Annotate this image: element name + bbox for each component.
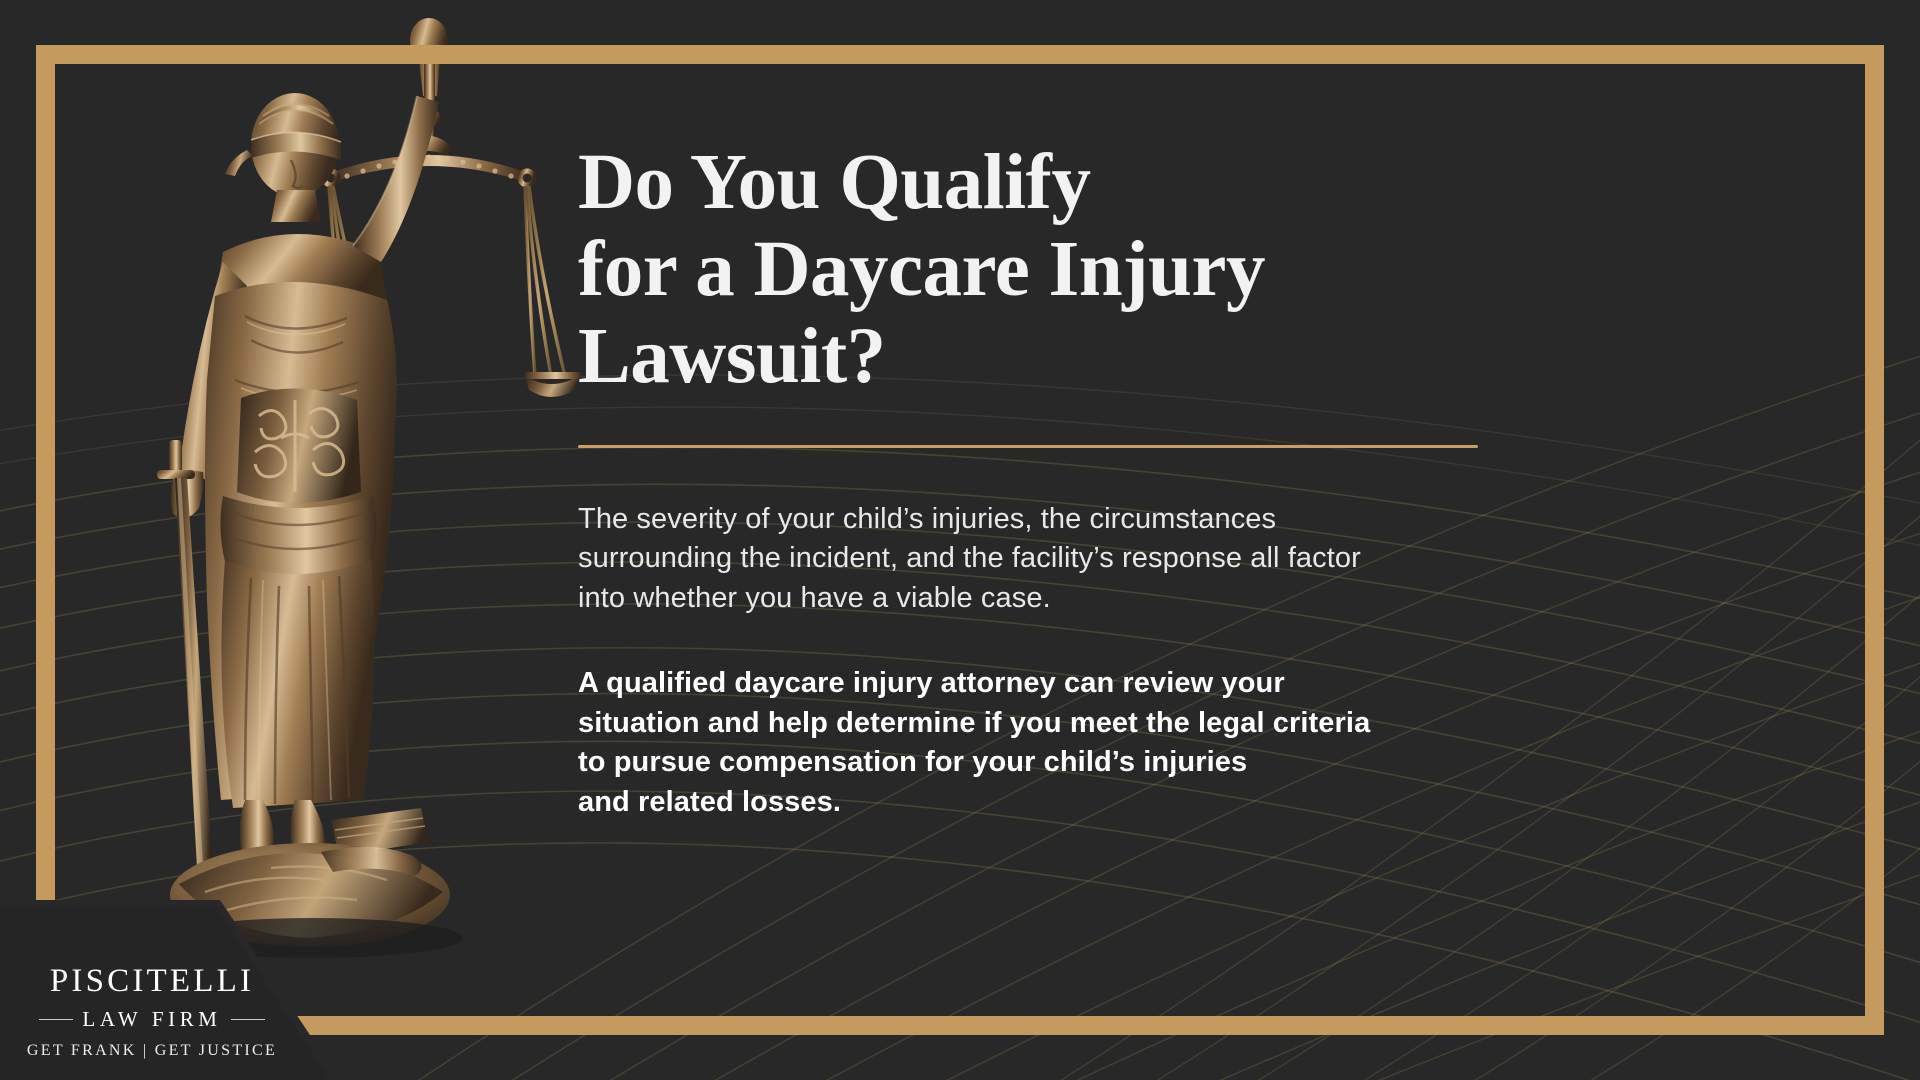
logo-rule-left (39, 1019, 73, 1020)
gold-divider (578, 445, 1478, 448)
body-paragraph-emphasis: A qualified daycare injury attorney can … (578, 664, 1488, 823)
logo-firm-type-row: LAW FIRM (22, 1007, 282, 1032)
logo-tagline: GET FRANK | GET JUSTICE (22, 1042, 282, 1060)
body-paragraph: The severity of your child’s injuries, t… (578, 500, 1488, 618)
logo-firm-type: LAW FIRM (82, 1007, 221, 1032)
marketing-banner: Do You Qualify for a Daycare Injury Laws… (0, 0, 1920, 1080)
lady-justice-statue-image (95, 0, 615, 1010)
page-title: Do You Qualify for a Daycare Injury Laws… (578, 140, 1488, 401)
firm-logo: PISCITELLI LAW FIRM GET FRANK | GET JUST… (22, 965, 282, 1060)
logo-firm-name: PISCITELLI (22, 965, 282, 998)
content-column: Do You Qualify for a Daycare Injury Laws… (578, 140, 1488, 852)
logo-rule-right (231, 1019, 265, 1020)
